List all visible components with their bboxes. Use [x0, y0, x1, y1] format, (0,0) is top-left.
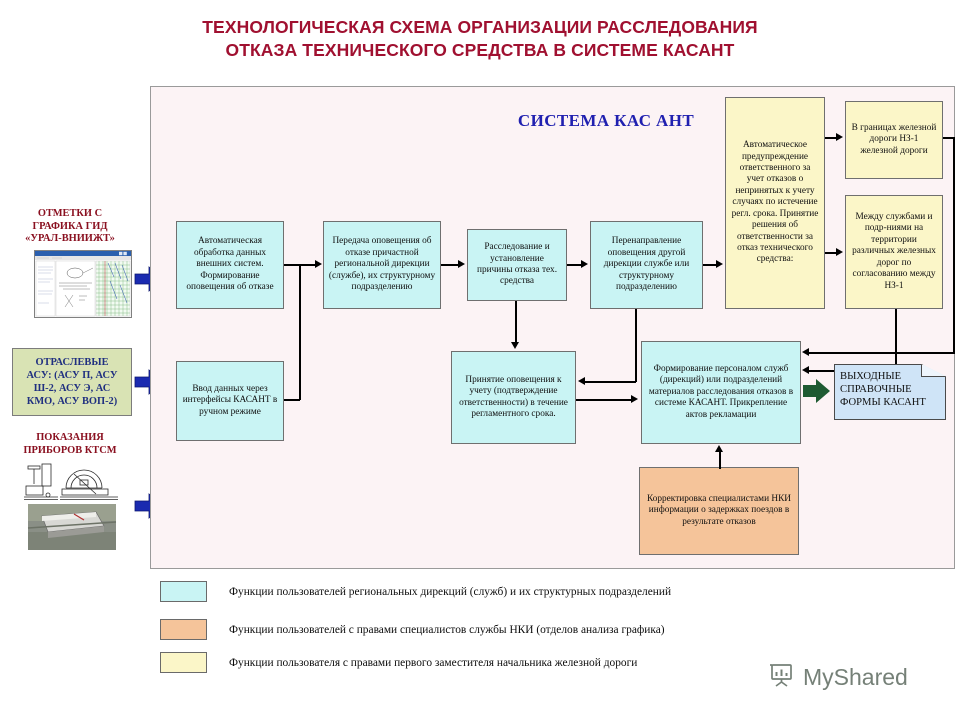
input-caption-gid: ОТМЕТКИ С ГРАФИКА ГИД «УРАЛ-ВНИИЖТ»	[6, 208, 134, 246]
legend-row-nki: Функции пользователей с правами специали…	[160, 619, 665, 640]
legend-swatch-cyan	[160, 581, 207, 602]
arrowhead-nki-up	[715, 445, 723, 452]
arrowhead-transfer-to-investigation	[458, 260, 465, 268]
legend-label-regional: Функции пользователей региональных дирек…	[229, 586, 671, 598]
ktsm-device-photo	[22, 462, 122, 550]
arrowhead-redirect-to-acceptance	[578, 377, 585, 385]
arrowhead-warning-to-within	[836, 133, 843, 141]
connector-within-to-materials-h	[809, 352, 955, 354]
page-title: ТЕХНОЛОГИЧЕСКАЯ СХЕМА ОРГАНИЗАЦИИ РАССЛЕ…	[0, 16, 960, 62]
box-between-services[interactable]: Между службами и подр-ниями на территори…	[845, 195, 943, 309]
box-redirect[interactable]: Перенаправление оповещения другой дирекц…	[590, 221, 703, 309]
arrowhead-auto-to-transfer	[315, 260, 322, 268]
panel-heading: СИСТЕМА КАС АНТ	[441, 111, 771, 131]
output-forms-document[interactable]: ВЫХОДНЫЕ СПРАВОЧНЫЕ ФОРМЫ КАСАНТ	[834, 364, 946, 420]
arrowhead-between-to-materials	[802, 366, 809, 374]
legend-label-deputy: Функции пользователя с правами первого з…	[229, 657, 637, 669]
diagram-page: ТЕХНОЛОГИЧЕСКАЯ СХЕМА ОРГАНИЗАЦИИ РАССЛЕ…	[0, 0, 960, 720]
output-line-3: ФОРМЫ КАСАНТ	[840, 396, 941, 409]
box-investigation[interactable]: Расследование и установление причины отк…	[467, 229, 567, 301]
output-green-arrow	[803, 377, 831, 410]
box-auto-warning[interactable]: Автоматическое предупреждение ответствен…	[725, 97, 825, 309]
gid-screenshot-graphic	[35, 251, 131, 317]
arrowhead-warning-to-between	[836, 248, 843, 256]
arrowhead-investigation-down	[511, 342, 519, 349]
connector-acceptance-to-materials	[576, 399, 632, 401]
connector-redirect-down	[635, 309, 637, 382]
box-nki-correction[interactable]: Корректировка специалистами НКИ информац…	[639, 467, 799, 555]
input-box-asu: ОТРАСЛЕВЫЕ АСУ: (АСУ П, АСУ Ш-2, АСУ Э, …	[12, 348, 132, 416]
ktsm-photo-graphic	[22, 462, 122, 550]
connector-manual-v	[299, 264, 301, 400]
arrowhead-investigation-to-redirect	[581, 260, 588, 268]
connector-redirect-to-acceptance-h	[585, 381, 636, 383]
connector-nki-up	[719, 452, 721, 469]
watermark: MyShared	[768, 660, 908, 694]
box-manual-input[interactable]: Ввод данных через интерфейсы КАСАНТ в ру…	[176, 361, 284, 441]
arrowhead-within-to-materials	[802, 348, 809, 356]
connector-transfer-to-investigation	[441, 264, 459, 266]
page-title-line-1: ТЕХНОЛОГИЧЕСКАЯ СХЕМА ОРГАНИЗАЦИИ РАССЛЕ…	[0, 16, 960, 39]
gid-schedule-screenshot	[34, 250, 132, 318]
arrowhead-acceptance-to-materials	[631, 395, 638, 403]
presentation-board-icon	[768, 660, 796, 694]
connector-manual-h	[284, 399, 300, 401]
connector-investigation-to-redirect	[567, 264, 582, 266]
box-acceptance[interactable]: Принятие оповещения к учету (подтвержден…	[451, 351, 576, 444]
page-title-line-2: ОТКАЗА ТЕХНИЧЕСКОГО СРЕДСТВА В СИСТЕМЕ К…	[0, 39, 960, 62]
legend-label-nki: Функции пользователей с правами специали…	[229, 624, 665, 636]
box-within-railway[interactable]: В границах железной дороги НЗ-1 железной…	[845, 101, 943, 179]
box-auto-processing[interactable]: Автоматическая обработка данных внешних …	[176, 221, 284, 309]
watermark-text: MyShared	[803, 664, 908, 691]
legend-swatch-peach	[160, 619, 207, 640]
input-caption-ktsm: ПОКАЗАНИЯ ПРИБОРОВ КТСМ	[6, 432, 134, 457]
legend-swatch-yellow	[160, 652, 207, 673]
connector-investigation-down	[515, 301, 517, 343]
connector-within-down	[953, 137, 955, 353]
box-transfer-notice[interactable]: Передача оповещения об отказе причастной…	[323, 221, 441, 309]
connector-between-down	[895, 309, 897, 371]
system-panel: СИСТЕМА КАС АНТ Автоматическая обработка…	[150, 86, 955, 569]
legend-row-deputy: Функции пользователя с правами первого з…	[160, 652, 637, 673]
document-fold-corner	[921, 365, 945, 377]
connector-redirect-to-warning	[703, 264, 717, 266]
arrowhead-redirect-to-warning	[716, 260, 723, 268]
output-line-2: СПРАВОЧНЫЕ	[840, 383, 941, 396]
box-materials-forming[interactable]: Формирование персоналом служб (дирекций)…	[641, 341, 801, 444]
legend-row-regional: Функции пользователей региональных дирек…	[160, 581, 671, 602]
